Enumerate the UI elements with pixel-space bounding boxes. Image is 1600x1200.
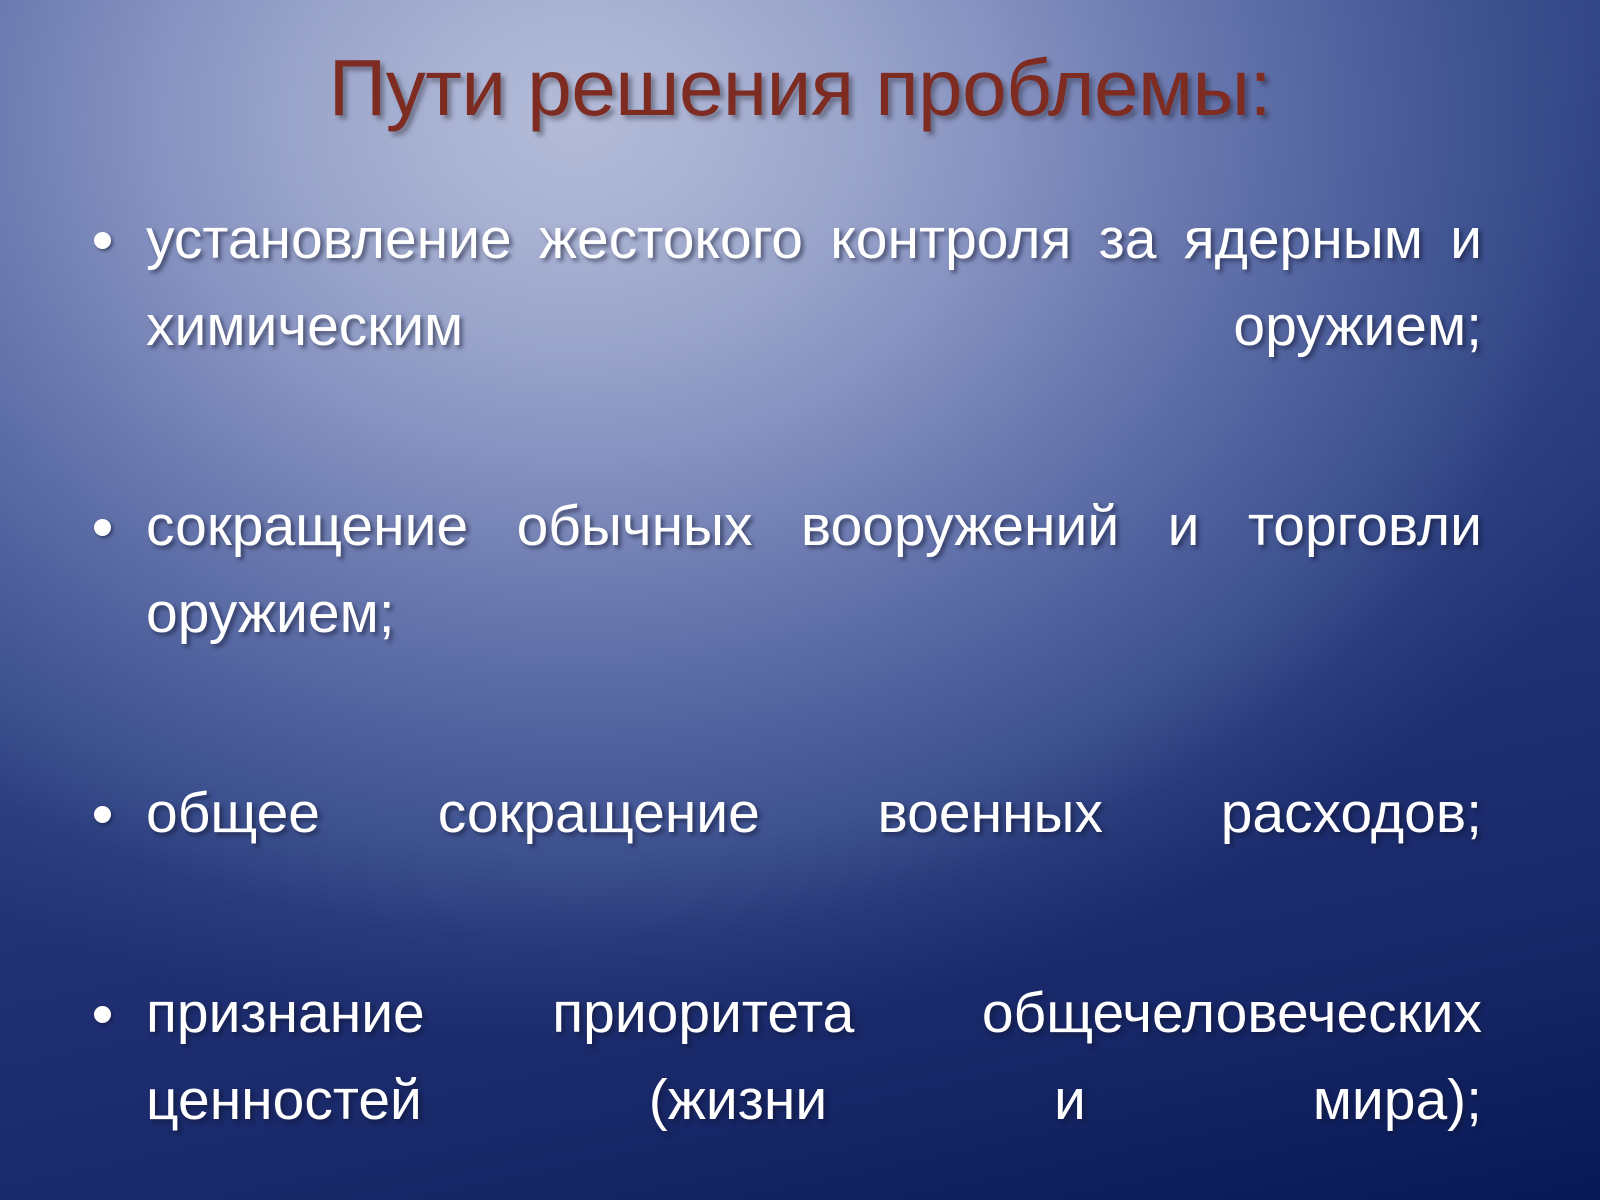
slide-title-area: Пути решения проблемы: [0, 46, 1600, 131]
list-item: общее сокращение военных расходов; [82, 770, 1482, 944]
list-item: сокращение обычных вооружений и торговли… [82, 483, 1482, 744]
bullet-point-icon [94, 232, 111, 249]
page-title: Пути решения проблемы: [329, 46, 1272, 131]
list-item-label: сокращение обычных вооружений и торговли… [146, 483, 1482, 744]
list-item: установление жестокого контроля за ядерн… [82, 196, 1482, 457]
presentation-slide: Пути решения проблемы: установление жест… [0, 0, 1600, 1200]
bullet-point-icon [94, 1006, 111, 1023]
bullet-point-icon [94, 519, 111, 536]
list-item: признание приоритета общечеловеческих це… [82, 970, 1482, 1200]
bullet-point-icon [94, 806, 111, 823]
bullet-list: установление жестокого контроля за ядерн… [82, 196, 1482, 1200]
list-item-label: установление жестокого контроля за ядерн… [146, 196, 1482, 457]
list-item-label: общее сокращение военных расходов; [146, 770, 1482, 944]
list-item-label: признание приоритета общечеловеческих це… [146, 970, 1482, 1200]
